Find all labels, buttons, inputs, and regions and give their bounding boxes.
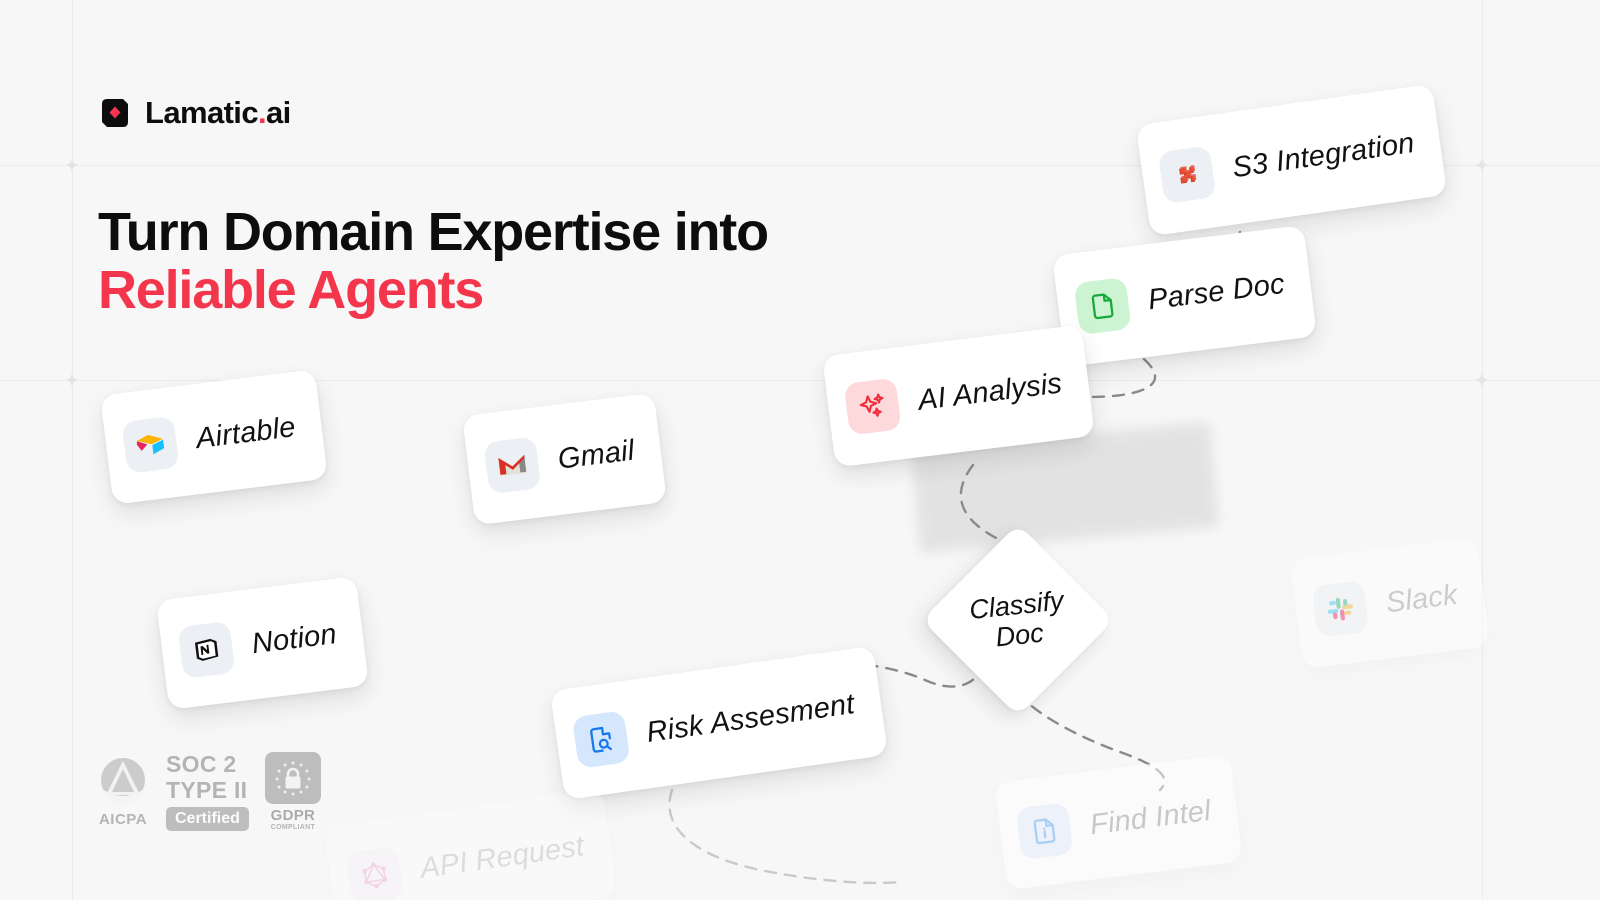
soc2-line-2: TYPE II <box>166 778 249 802</box>
node-icon-chip <box>1158 145 1217 204</box>
node-label: API Request <box>418 830 586 886</box>
document-icon <box>1086 289 1119 322</box>
gdpr-line-1: GDPR <box>271 807 316 824</box>
gdpr-lock-icon <box>272 758 314 798</box>
node-label: Slack <box>1384 578 1459 620</box>
soc2-status-badge: Certified <box>166 807 249 831</box>
node-gmail[interactable]: Gmail <box>462 393 667 526</box>
brand-name: Lamatic <box>145 95 258 130</box>
soc2-badge: SOC 2 TYPE II Certified <box>166 752 249 831</box>
notion-icon <box>190 633 223 666</box>
node-label: Gmail <box>556 434 636 476</box>
node-label: Notion <box>250 618 338 661</box>
brand-wordmark: Lamatic.ai <box>145 95 291 131</box>
brand-dot: . <box>258 95 266 130</box>
headline-line-1: Turn Domain Expertise into <box>98 202 768 262</box>
compliance-badges: AICPA SOC 2 TYPE II Certified <box>96 752 321 831</box>
node-icon-chip <box>844 378 902 436</box>
node-icon-chip <box>572 710 631 769</box>
node-icon-chip <box>1311 580 1369 638</box>
brand-suffix: ai <box>266 95 291 130</box>
node-label: Find Intel <box>1088 794 1212 842</box>
brand-logo[interactable]: Lamatic.ai <box>98 95 291 131</box>
aicpa-badge: AICPA <box>96 755 150 828</box>
node-icon-chip <box>483 436 541 494</box>
node-label: Classify Doc <box>968 585 1068 655</box>
lamatic-mark-icon <box>98 96 132 130</box>
node-label: S3 Integration <box>1230 126 1416 184</box>
node-icon-chip <box>177 621 235 679</box>
aicpa-seal-icon <box>96 755 150 809</box>
hero-canvas: Lamatic.ai Turn Domain Expertise into Re… <box>0 0 1600 900</box>
node-label: Parse Doc <box>1146 267 1286 316</box>
gdpr-line-2: COMPLIANT <box>271 824 315 831</box>
slack-icon <box>1324 592 1357 625</box>
headline-line-2: Reliable Agents <box>98 261 768 319</box>
document-info-icon <box>1028 814 1061 847</box>
gdpr-seal <box>265 752 321 804</box>
page-title: Turn Domain Expertise into Reliable Agen… <box>98 203 768 320</box>
connector-risk-to-api <box>669 790 900 883</box>
aicpa-label: AICPA <box>99 811 147 828</box>
gdpr-badge: GDPR COMPLIANT <box>265 752 321 831</box>
node-icon-chip <box>122 416 180 474</box>
node-label: AI Analysis <box>916 367 1064 417</box>
node-label: Risk Assesment <box>644 688 856 750</box>
document-search-icon <box>584 723 618 757</box>
node-icon-chip <box>1074 277 1132 335</box>
amazon-s3-icon <box>1170 158 1204 192</box>
airtable-icon <box>133 429 168 461</box>
sparkles-icon <box>856 390 889 423</box>
gmail-icon <box>495 451 530 481</box>
node-slack[interactable]: Slack <box>1290 537 1490 669</box>
graphql-icon <box>358 858 392 892</box>
node-label: Airtable <box>194 411 297 456</box>
soc2-line-1: SOC 2 <box>166 752 249 776</box>
node-icon-chip <box>1016 802 1074 860</box>
node-icon-chip <box>346 846 405 900</box>
